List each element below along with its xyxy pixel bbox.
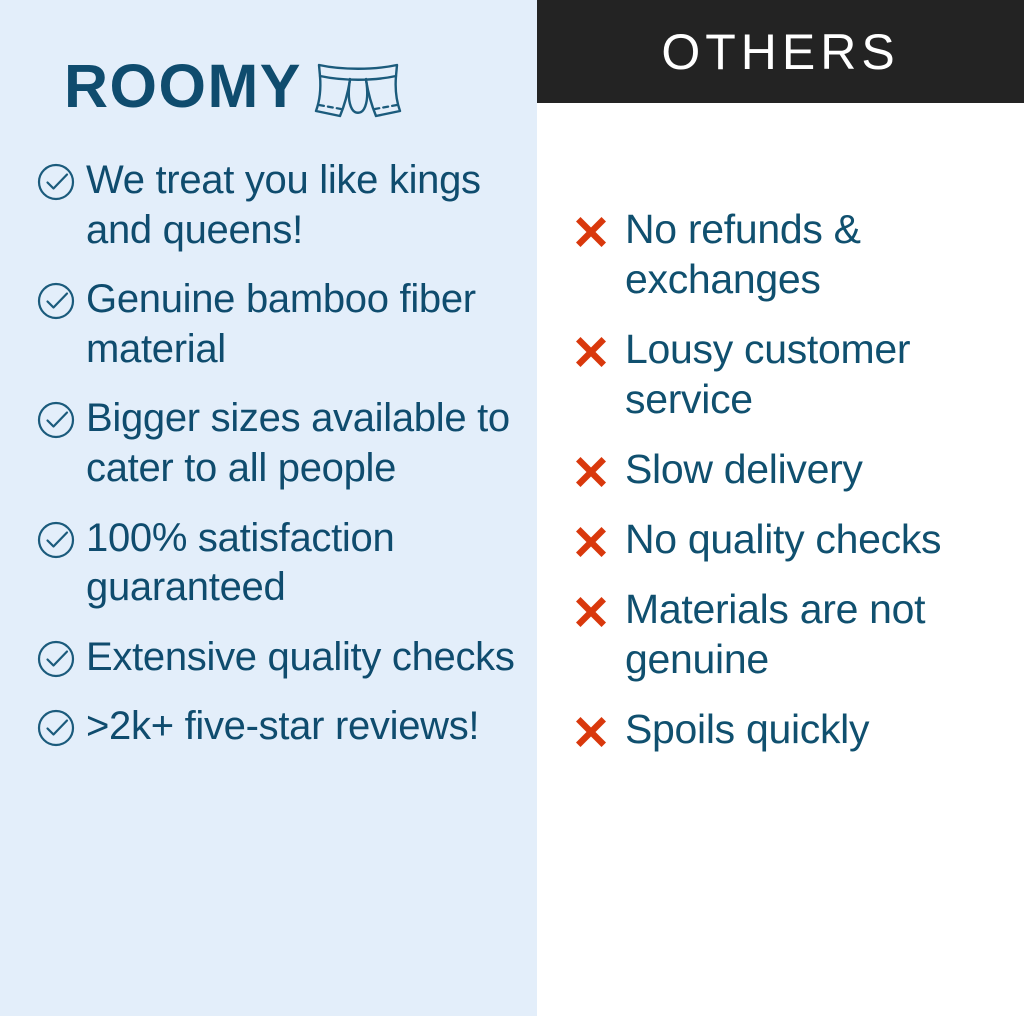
- list-item-label: Genuine bamboo fiber material: [86, 275, 536, 374]
- list-item-label: Spoils quickly: [625, 704, 869, 754]
- list-item-label: Slow delivery: [625, 444, 863, 494]
- list-item: Spoils quickly: [570, 704, 1024, 754]
- list-item: No refunds & exchanges: [570, 204, 1024, 304]
- cross-icon: [570, 521, 612, 563]
- list-item: Lousy customer service: [570, 324, 1024, 424]
- list-item-label: Lousy customer service: [625, 324, 1024, 424]
- roomy-column: ROOMY: [0, 0, 537, 1016]
- list-item-label: No refunds & exchanges: [625, 204, 1024, 304]
- pros-list: We treat you like kings and queens! Genu…: [36, 156, 536, 772]
- list-item-label: Materials are not genuine: [625, 584, 1024, 684]
- list-item-label: Bigger sizes available to cater to all p…: [86, 394, 536, 493]
- cons-list: No refunds & exchanges Lousy customer se…: [570, 204, 1024, 774]
- cross-icon: [570, 451, 612, 493]
- brand-lockup: ROOMY: [64, 52, 404, 120]
- comparison-infographic: ROOMY: [0, 0, 1024, 1024]
- circle-check-icon: [36, 162, 76, 202]
- list-item: We treat you like kings and queens!: [36, 156, 536, 255]
- boxer-briefs-icon: [312, 58, 404, 120]
- list-item-label: Extensive quality checks: [86, 633, 515, 683]
- list-item: Bigger sizes available to cater to all p…: [36, 394, 536, 493]
- list-item: Genuine bamboo fiber material: [36, 275, 536, 374]
- cross-icon: [570, 711, 612, 753]
- list-item-label: No quality checks: [625, 514, 941, 564]
- list-item: Extensive quality checks: [36, 633, 536, 683]
- circle-check-icon: [36, 281, 76, 321]
- list-item: 100% satisfaction guaranteed: [36, 514, 536, 613]
- circle-check-icon: [36, 520, 76, 560]
- list-item: No quality checks: [570, 514, 1024, 564]
- circle-check-icon: [36, 708, 76, 748]
- list-item-label: We treat you like kings and queens!: [86, 156, 536, 255]
- circle-check-icon: [36, 400, 76, 440]
- others-title: OTHERS: [661, 27, 899, 77]
- others-column: OTHERS No refunds & exchanges Lousy cust…: [537, 0, 1024, 1024]
- circle-check-icon: [36, 639, 76, 679]
- cross-icon: [570, 591, 612, 633]
- cross-icon: [570, 211, 612, 253]
- others-header-bar: OTHERS: [537, 0, 1024, 103]
- cross-icon: [570, 331, 612, 373]
- list-item: >2k+ five-star reviews!: [36, 702, 536, 752]
- list-item-label: 100% satisfaction guaranteed: [86, 514, 536, 613]
- list-item: Slow delivery: [570, 444, 1024, 494]
- list-item: Materials are not genuine: [570, 584, 1024, 684]
- brand-wordmark: ROOMY: [64, 56, 302, 117]
- list-item-label: >2k+ five-star reviews!: [86, 702, 479, 752]
